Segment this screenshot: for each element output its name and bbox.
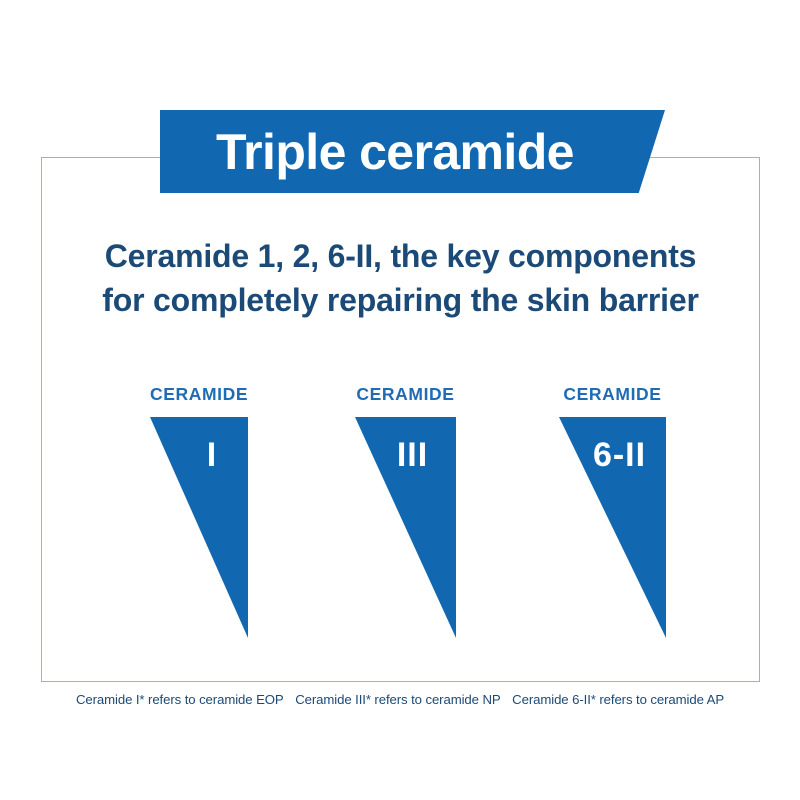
ceramide-wedge-3: CERAMIDE 6-II — [559, 386, 666, 638]
ceramide-wedge-1-roman: I — [150, 438, 248, 472]
footnote: Ceramide I* refers to ceramide EOP Ceram… — [0, 692, 800, 707]
ceramide-wedge-2-roman: III — [355, 438, 456, 472]
page-title: Triple ceramide — [216, 127, 574, 177]
ceramide-wedge-1-label: CERAMIDE — [150, 386, 248, 404]
subtitle-line-1: Ceramide 1, 2, 6-II, the key components — [41, 234, 760, 278]
ceramide-wedge-3-label: CERAMIDE — [559, 386, 666, 404]
footnote-item-1: Ceramide I* refers to ceramide EOP — [76, 692, 284, 707]
ceramide-wedge-2-label: CERAMIDE — [355, 386, 456, 404]
ceramide-wedge-3-roman: 6-II — [559, 438, 666, 472]
footnote-item-3: Ceramide 6-II* refers to ceramide AP — [512, 692, 724, 707]
ceramide-infographic: Triple ceramide Ceramide 1, 2, 6-II, the… — [0, 0, 800, 800]
footnote-item-2: Ceramide III* refers to ceramide NP — [295, 692, 500, 707]
subtitle-block: Ceramide 1, 2, 6-II, the key components … — [41, 234, 760, 322]
ceramide-wedge-group: CERAMIDE I CERAMIDE III CERAMIDE 6-II — [41, 386, 760, 646]
ceramide-wedge-1: CERAMIDE I — [150, 386, 248, 638]
ceramide-wedge-2: CERAMIDE III — [355, 386, 456, 638]
title-banner: Triple ceramide — [160, 110, 665, 193]
subtitle-line-2: for completely repairing the skin barrie… — [41, 278, 760, 322]
